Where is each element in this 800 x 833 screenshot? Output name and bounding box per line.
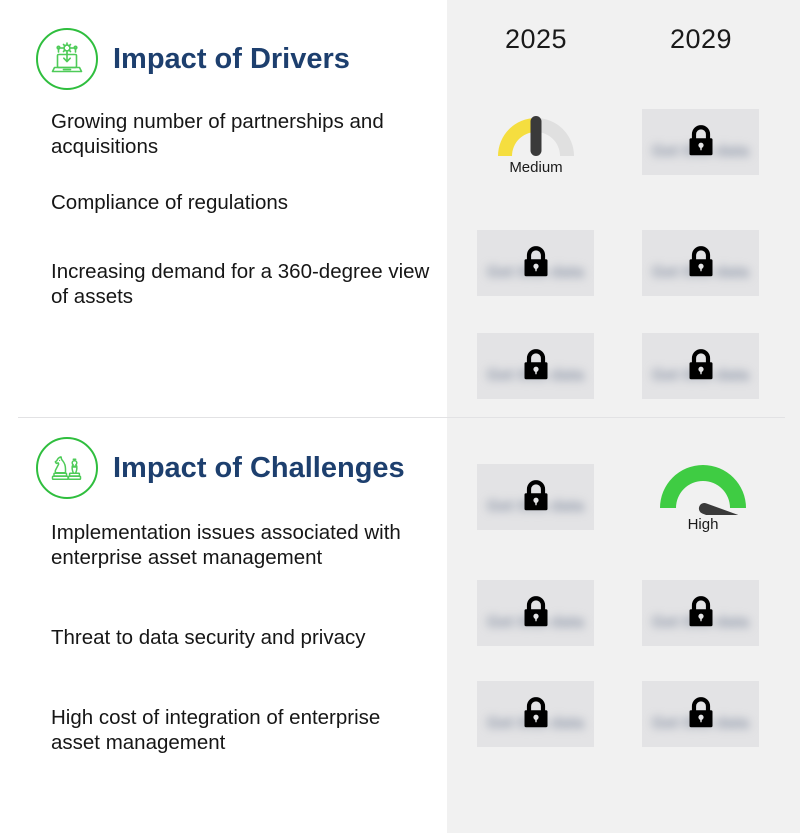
column-header-2029: 2029 [639,24,763,55]
gauge-label-medium: Medium [481,159,591,176]
chess-pieces-icon [36,437,98,499]
lock-icon [519,694,553,732]
locked-cell-drivers-row3-2029[interactable]: Get this data [642,333,759,399]
lock-icon [519,346,553,384]
lock-icon [684,346,718,384]
section-title-drivers: Impact of Drivers [113,43,350,76]
locked-cell-challenges-row3-2025[interactable]: Get this data [477,681,594,747]
section-header-challenges: Impact of Challenges [36,437,405,499]
section-header-drivers: Impact of Drivers [36,28,350,90]
driver-bullet-2: Compliance of regulations [51,190,431,215]
lock-icon [519,593,553,631]
gauge-drivers-row1-2025: Medium [481,112,591,176]
column-header-2025: 2025 [474,24,598,55]
lock-icon [519,477,553,515]
lock-icon [519,243,553,281]
challenge-bullet-1: Implementation issues associated with en… [51,520,431,570]
gauge-high-dial [655,455,751,515]
lock-icon [684,694,718,732]
driver-bullet-3: Increasing demand for a 360-degree view … [51,259,431,309]
locked-cell-drivers-row1-2029[interactable]: Get this data [642,109,759,175]
challenge-bullet-2: Threat to data security and privacy [51,625,431,650]
locked-cell-drivers-row2-2029[interactable]: Get this data [642,230,759,296]
section-title-challenges: Impact of Challenges [113,452,405,485]
locked-cell-drivers-row2-2025[interactable]: Get this data [477,230,594,296]
gauge-label-high: High [648,516,758,533]
driver-bullet-1: Growing number of partnerships and acqui… [51,109,431,159]
locked-cell-challenges-row2-2025[interactable]: Get this data [477,580,594,646]
locked-cell-challenges-row2-2029[interactable]: Get this data [642,580,759,646]
section-divider [18,417,785,418]
lock-icon [684,122,718,160]
gauge-medium-dial [494,112,578,158]
lock-icon [684,593,718,631]
gauge-challenges-row1-2029: High [648,455,758,533]
locked-cell-challenges-row3-2029[interactable]: Get this data [642,681,759,747]
locked-cell-challenges-row1-2025[interactable]: Get this data [477,464,594,530]
locked-cell-drivers-row3-2025[interactable]: Get this data [477,333,594,399]
lock-icon [684,243,718,281]
challenge-bullet-3: High cost of integration of enterprise a… [51,705,431,755]
laptop-gear-download-icon [36,28,98,90]
